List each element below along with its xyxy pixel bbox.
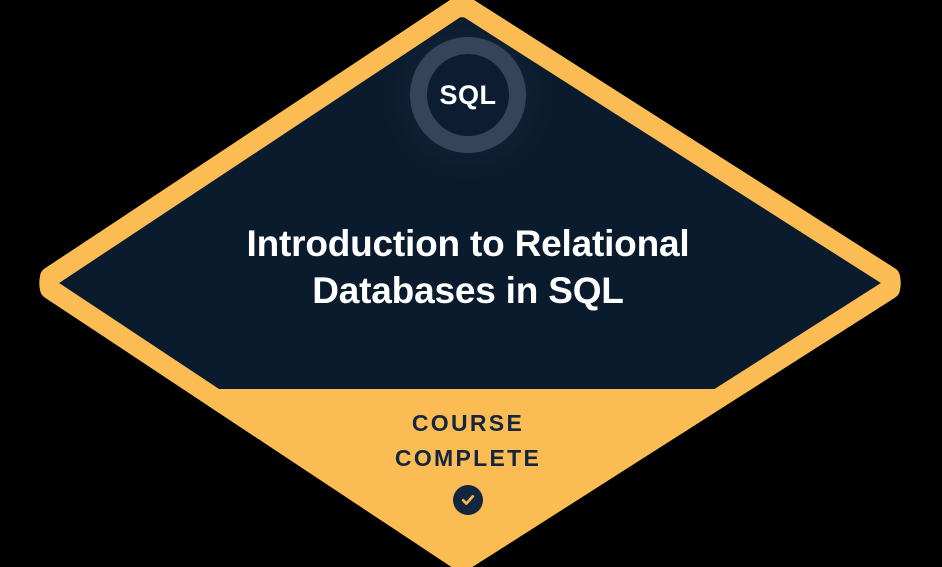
check-circle-icon [453, 485, 483, 515]
course-completion-badge: SQL Introduction to Relational Databases… [0, 0, 942, 567]
course-title: Introduction to Relational Databases in … [150, 221, 786, 315]
course-title-line-2: Databases in SQL [150, 268, 786, 315]
status-block: COURSE COMPLETE [271, 406, 665, 515]
status-label-line-1: COURSE [271, 406, 665, 441]
course-title-line-1: Introduction to Relational [150, 221, 786, 268]
status-label-line-2: COMPLETE [271, 441, 665, 476]
status-label: COURSE COMPLETE [271, 406, 665, 476]
sql-ring-inner: SQL [427, 54, 509, 136]
sql-ring-icon: SQL [410, 37, 526, 153]
technology-label: SQL [439, 82, 496, 109]
